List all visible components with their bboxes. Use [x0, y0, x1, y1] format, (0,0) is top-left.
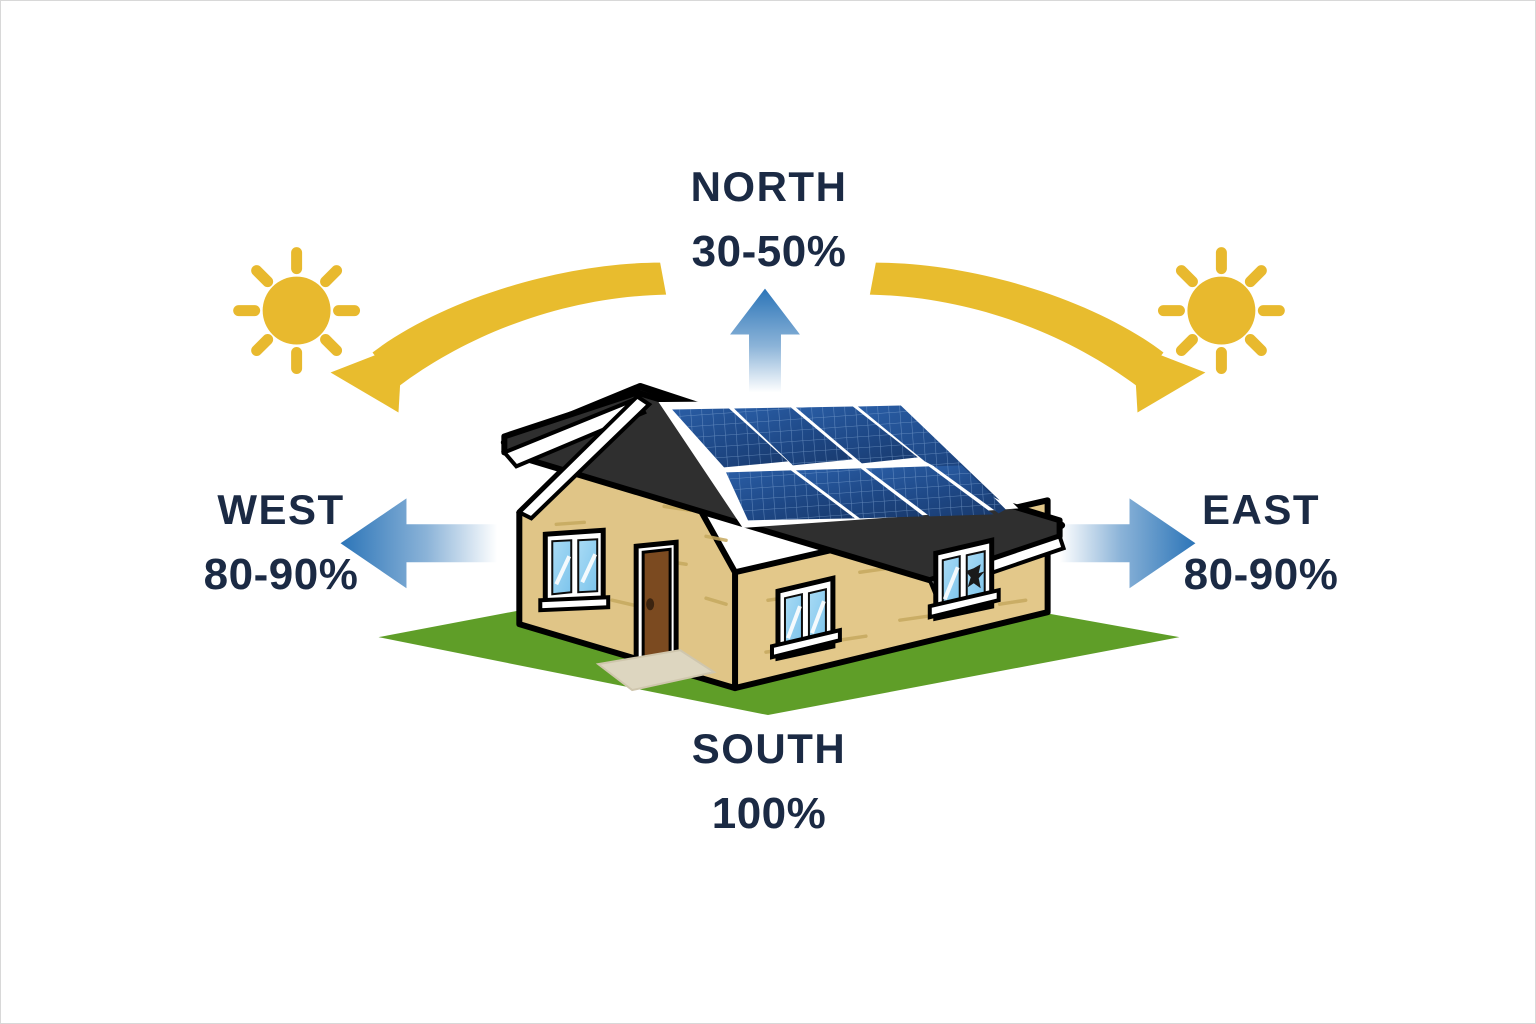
label-north-value: 30-50% [609, 224, 929, 279]
sun-icon [1163, 253, 1279, 369]
label-west: WEST 80-90% [121, 484, 441, 602]
diagram-canvas: NORTH 30-50% SOUTH 100% WEST 80-90% EAST… [0, 0, 1536, 1024]
label-north-direction: NORTH [609, 161, 929, 214]
label-east-value: 80-90% [1101, 547, 1421, 602]
label-west-value: 80-90% [121, 547, 441, 602]
label-south-value: 100% [609, 786, 929, 841]
label-north: NORTH 30-50% [609, 161, 929, 279]
sun-icon [239, 253, 355, 369]
label-south: SOUTH 100% [609, 723, 929, 841]
label-west-direction: WEST [121, 484, 441, 537]
window [772, 578, 840, 658]
arrow-up-icon [730, 289, 800, 393]
window [540, 530, 608, 610]
label-east: EAST 80-90% [1101, 484, 1421, 602]
label-south-direction: SOUTH [609, 723, 929, 776]
label-east-direction: EAST [1101, 484, 1421, 537]
window [930, 540, 999, 618]
